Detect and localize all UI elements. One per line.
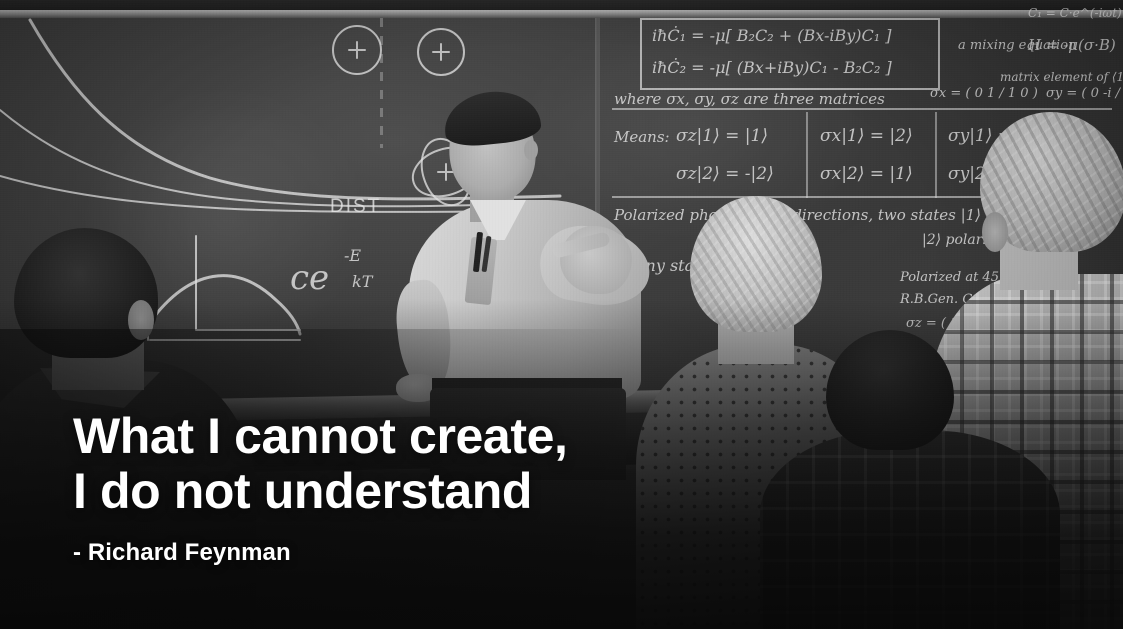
student-right-ear: [982, 212, 1008, 252]
quote-line-2: I do not understand: [73, 464, 973, 519]
charge-circle-group-2: [418, 29, 464, 75]
feynman-ear: [524, 140, 538, 160]
quote-line-1: What I cannot create,: [73, 409, 973, 464]
student-left-ear: [128, 300, 154, 340]
quote-overlay: What I cannot create, I do not understan…: [73, 409, 973, 567]
quote-attribution: - Richard Feynman: [73, 539, 973, 567]
distribution-hump: [150, 276, 300, 334]
charge-circle-group-1: [333, 26, 381, 74]
plot-axes: [196, 236, 300, 330]
quote-text: What I cannot create, I do not understan…: [73, 409, 973, 519]
feynman-quote-image: DIST ce -E kT iħĊ₁ = -μ[ B₂C₂ + (Bx-iBy)…: [0, 0, 1123, 629]
equation-box: [640, 18, 940, 90]
